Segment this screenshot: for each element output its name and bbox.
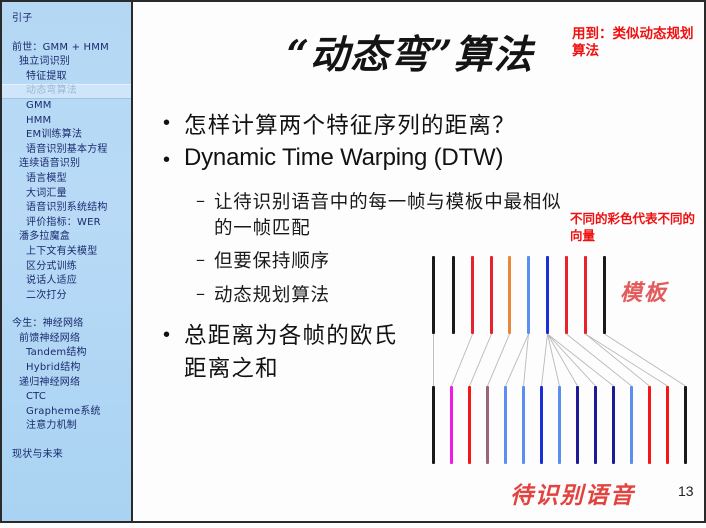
label-query: 待识别语音 [510,476,635,510]
query-bar-5 [522,386,525,464]
sidebar-item-28[interactable]: 注意力机制 [2,419,131,434]
template-bar-0 [432,256,435,334]
template-bar-4 [508,256,511,334]
outline-sidebar[interactable]: 引子前世：GMM + HMM独立词识别特征提取动态弯算法GMMHMMEM训练算法… [2,2,131,521]
query-bar-9 [594,386,597,464]
sidebar-item-23[interactable]: Tandem结构 [2,346,131,361]
dtw-alignment-diagram: 模板 待识别语音 [415,230,705,510]
template-bar-6 [546,256,549,334]
label-template: 模板 [620,275,668,307]
sidebar-item-label: 前馈神经网络 [19,333,80,344]
query-bar-0 [432,386,435,464]
template-bar-7 [565,256,568,334]
sidebar-item-label: 说话人适应 [26,275,77,286]
template-bar-2 [471,256,474,334]
sidebar-item-label: 上下文有关模型 [26,246,97,257]
sidebar-item-label: HMM [26,115,51,126]
sidebar-item-30[interactable]: 现状与未来 [2,448,131,463]
query-bar-10 [612,386,615,464]
sidebar-item-label: 语音识别基本方程 [26,144,108,155]
sidebar-item-17[interactable]: 区分式训练 [2,260,131,275]
sidebar-spacer [2,27,131,41]
bullet-dtw: Dynamic Time Warping (DTW) [184,144,503,172]
sidebar-item-label: 注意力机制 [26,420,77,431]
sidebar-item-12[interactable]: 大词汇量 [2,187,131,202]
sidebar-item-24[interactable]: Hybrid结构 [2,361,131,376]
sidebar-item-label: 独立词识别 [19,56,70,67]
sidebar-item-label: CTC [26,391,46,402]
alignment-link-4 [506,334,529,386]
sidebar-item-label: 前世：GMM + HMM [12,42,109,53]
sidebar-item-label: 区分式训练 [26,261,77,272]
template-bar-8 [584,256,587,334]
slide-border-bottom [0,521,706,523]
alignment-link-5 [524,334,529,386]
sidebar-item-label: 大词汇量 [26,188,67,199]
template-bar-5 [527,256,530,334]
alignment-link-11 [567,334,632,386]
sidebar-item-label: 潘多拉魔盒 [19,231,70,242]
sidebar-item-label: Tandem结构 [26,347,87,358]
alignment-link-8 [548,334,578,386]
query-bar-1 [450,386,453,464]
alignment-link-3 [488,334,510,386]
query-bar-3 [486,386,489,464]
sub-bullet-order: 但要保持顺序 [214,249,330,275]
template-bar-3 [490,256,493,334]
sidebar-item-19[interactable]: 二次打分 [2,289,131,304]
query-bar-8 [576,386,579,464]
bullet-marker-2: • [163,150,170,170]
query-bar-12 [648,386,651,464]
sidebar-item-14[interactable]: 评价指标：WER [2,216,131,231]
sidebar-item-label: Hybrid结构 [26,362,81,373]
alignment-link-1 [452,334,473,386]
sidebar-item-6[interactable]: GMM [2,99,131,114]
sidebar-item-13[interactable]: 语音识别系统结构 [2,201,131,216]
sidebar-item-label: 现状与未来 [12,449,63,460]
sidebar-item-label: Grapheme系统 [26,406,101,417]
sidebar-item-0[interactable]: 引子 [2,12,131,27]
query-bar-6 [540,386,543,464]
sidebar-spacer [2,434,131,448]
sidebar-item-label: 语言模型 [26,173,67,184]
sidebar-item-11[interactable]: 语言模型 [2,172,131,187]
sidebar-item-3[interactable]: 独立词识别 [2,55,131,70]
query-bar-14 [684,386,687,464]
sidebar-item-label: 特征提取 [26,71,67,82]
slide-title: “动态弯”算法 [255,24,565,80]
sidebar-spacer [2,303,131,317]
sidebar-item-16[interactable]: 上下文有关模型 [2,245,131,260]
template-bar-9 [603,256,606,334]
sidebar-item-21[interactable]: 今生：神经网络 [2,317,131,332]
page-number: 13 [678,483,694,499]
dash-marker-3: – [196,283,205,304]
query-bar-13 [666,386,669,464]
sidebar-item-22[interactable]: 前馈神经网络 [2,332,131,347]
dash-marker-1: – [196,190,205,211]
bullet-question: 怎样计算两个特征序列的距离？ [184,108,516,140]
sidebar-item-4[interactable]: 特征提取 [2,70,131,85]
sidebar-item-label: 评价指标：WER [26,217,101,228]
query-bar-4 [504,386,507,464]
sidebar-item-label: 递归神经网络 [19,377,80,388]
sub-bullet-match-line1: 让待识别语音中的每一帧与模板中最相似 [214,190,561,216]
dash-marker-2: – [196,249,205,270]
alignment-link-9 [548,334,596,386]
sidebar-item-label: 语音识别系统结构 [26,202,108,213]
sub-bullet-dp: 动态规划算法 [214,283,330,309]
sidebar-item-10[interactable]: 连续语音识别 [2,157,131,172]
sub-bullet-match-line2: 的一帧匹配 [214,216,311,242]
sidebar-item-label: GMM [26,100,52,111]
sidebar-item-label: 动态弯算法 [26,85,77,96]
alignment-link-13 [586,334,668,386]
sidebar-item-5[interactable]: 动态弯算法 [2,84,131,99]
sidebar-item-label: 引子 [12,13,32,24]
sidebar-item-label: EM训练算法 [26,129,82,140]
sidebar-item-7[interactable]: HMM [2,114,131,129]
sidebar-item-2[interactable]: 前世：GMM + HMM [2,41,131,56]
alignment-link-6 [542,334,548,386]
sidebar-item-8[interactable]: EM训练算法 [2,128,131,143]
sidebar-item-9[interactable]: 语音识别基本方程 [2,143,131,158]
alignment-links [415,230,705,510]
sidebar-divider [131,0,133,523]
bullet-marker-3: • [163,325,170,345]
template-bar-1 [452,256,455,334]
slide-canvas: 引子前世：GMM + HMM独立词识别特征提取动态弯算法GMMHMMEM训练算法… [0,0,706,528]
alignment-link-2 [470,334,492,386]
query-bar-7 [558,386,561,464]
sidebar-item-25[interactable]: 递归神经网络 [2,376,131,391]
bullet-total-distance: 总距离为各帧的欧氏距离之和 [184,320,414,386]
bullet-marker-1: • [163,113,170,133]
sidebar-item-label: 连续语音识别 [19,158,80,169]
sidebar-item-27[interactable]: Grapheme系统 [2,405,131,420]
sidebar-item-18[interactable]: 说话人适应 [2,274,131,289]
sidebar-item-15[interactable]: 潘多拉魔盒 [2,230,131,245]
sidebar-item-label: 今生：神经网络 [12,318,83,329]
query-bar-11 [630,386,633,464]
annotation-dynamic-programming: 用到：类似动态规划算法 [572,26,702,60]
alignment-link-14 [605,334,686,386]
sidebar-item-label: 二次打分 [26,290,67,301]
sidebar-item-26[interactable]: CTC [2,390,131,405]
alignment-link-12 [586,334,650,386]
query-bar-2 [468,386,471,464]
